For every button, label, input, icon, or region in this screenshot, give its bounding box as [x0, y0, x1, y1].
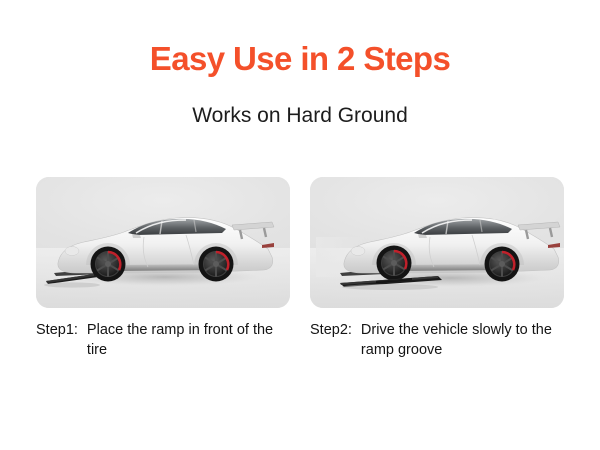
step1-text: Place the ramp in front of the tire [87, 320, 290, 360]
step1-caption: Step1: Place the ramp in front of the ti… [36, 320, 290, 380]
page-title: Easy Use in 2 Steps [0, 40, 600, 78]
step2-car-illustration [310, 177, 564, 308]
rear-wheel [485, 247, 520, 282]
page-subtitle: Works on Hard Ground [0, 103, 600, 129]
step1-car-illustration [36, 177, 290, 308]
step2-label: Step2: [310, 320, 361, 340]
step2-text: Drive the vehicle slowly to the ramp gro… [361, 320, 564, 360]
step1-label: Step1: [36, 320, 87, 340]
step-photos-row [36, 177, 564, 308]
step2-photo [310, 177, 564, 308]
front-wheel-on-ramp [377, 246, 412, 281]
step-captions-row: Step1: Place the ramp in front of the ti… [36, 320, 564, 380]
step2-caption: Step2: Drive the vehicle slowly to the r… [304, 320, 564, 380]
step1-photo [36, 177, 290, 308]
rear-wheel [199, 247, 234, 282]
